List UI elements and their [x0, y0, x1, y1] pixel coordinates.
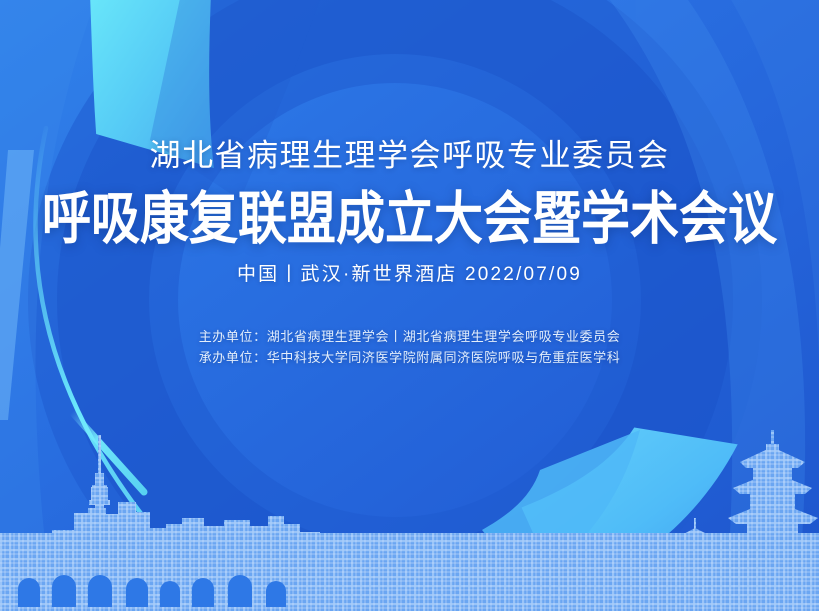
background-decoration — [0, 0, 819, 611]
conference-poster: 湖北省病理生理学会呼吸专业委员会 呼吸康复联盟成立大会暨学术会议 中国丨武汉·新… — [0, 0, 819, 611]
